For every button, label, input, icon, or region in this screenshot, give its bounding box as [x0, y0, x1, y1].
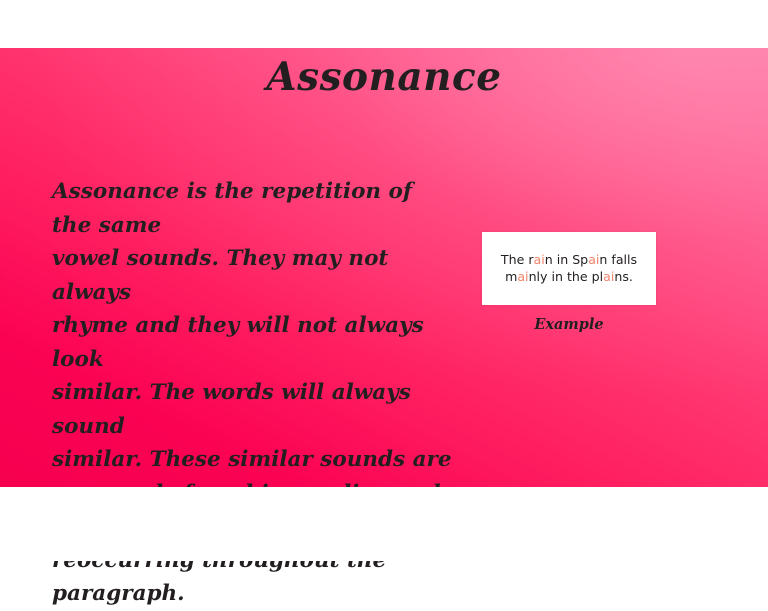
highlighted-vowel: ai	[517, 269, 528, 284]
plain-text: ns.	[614, 269, 633, 284]
example-card: The rain in Spain falls mainly in the pl…	[482, 232, 656, 305]
highlighted-vowel: ai	[534, 252, 545, 267]
plain-text: m	[505, 269, 517, 284]
example-line-1: The rain in Spain falls	[501, 252, 637, 267]
example-caption: Example	[482, 318, 656, 333]
example-card-text: The rain in Spain falls mainly in the pl…	[495, 252, 643, 285]
highlighted-vowel: ai	[603, 269, 614, 284]
highlighted-vowel: ai	[588, 252, 599, 267]
plain-text: nly in the pl	[529, 269, 604, 284]
slide-frame: Assonance Assonance is the repetition of…	[0, 0, 768, 561]
plain-text: n falls	[599, 252, 637, 267]
letterbox-top	[0, 0, 768, 48]
letterbox-bottom	[0, 487, 768, 561]
example-line-2: mainly in the plains.	[505, 269, 633, 284]
page-title: Assonance	[0, 58, 768, 97]
plain-text: n in Sp	[545, 252, 588, 267]
plain-text: The r	[501, 252, 534, 267]
